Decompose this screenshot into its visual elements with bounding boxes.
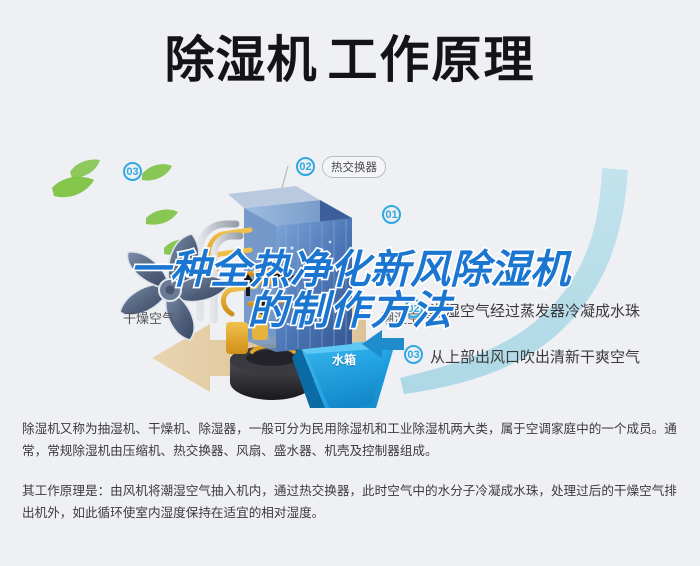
- badge-step-02: 02: [404, 299, 423, 318]
- page-title-part-2: 工作原理: [328, 35, 536, 85]
- badge-humid-air: 01: [382, 205, 401, 224]
- description-block: 除湿机又称为抽湿机、干燥机、除湿器，一般可分为民用除湿机和工业除湿机两大类，属于…: [22, 418, 682, 524]
- label-water-tank: 水箱: [332, 351, 356, 368]
- page-title-part-1: 除湿机: [165, 35, 318, 85]
- callout-heat-exchanger: 热交换器: [322, 156, 386, 178]
- description-paragraph-1: 除湿机又称为抽湿机、干燥机、除湿器，一般可分为民用除湿机和工业除湿机两大类，属于…: [22, 418, 682, 462]
- step-text-03: 从上部出风口吹出清新干爽空气: [430, 346, 640, 367]
- leaf-decorations: [52, 160, 192, 255]
- description-paragraph-2: 其工作原理是：由风机将潮湿空气抽入机内，通过热交换器，此时空气中的水分子冷凝成水…: [22, 480, 682, 524]
- badge-dry-air: 03: [123, 162, 142, 181]
- label-dry-air: 干燥空气: [123, 308, 175, 327]
- dehumidifier-diagram: 03 干燥空气 02 热交换器 01 潮湿空气 水箱 02 潮湿空气经过蒸发器冷…: [0, 108, 700, 408]
- page-root: 除湿机 工作原理: [0, 0, 700, 566]
- badge-heat-exchanger: 02: [296, 157, 315, 176]
- heat-exchanger-leader: [282, 166, 288, 188]
- step-text-02: 潮湿空气经过蒸发器冷凝成水珠: [430, 300, 640, 321]
- page-title: 除湿机 工作原理: [0, 22, 700, 98]
- badge-step-03: 03: [404, 345, 423, 364]
